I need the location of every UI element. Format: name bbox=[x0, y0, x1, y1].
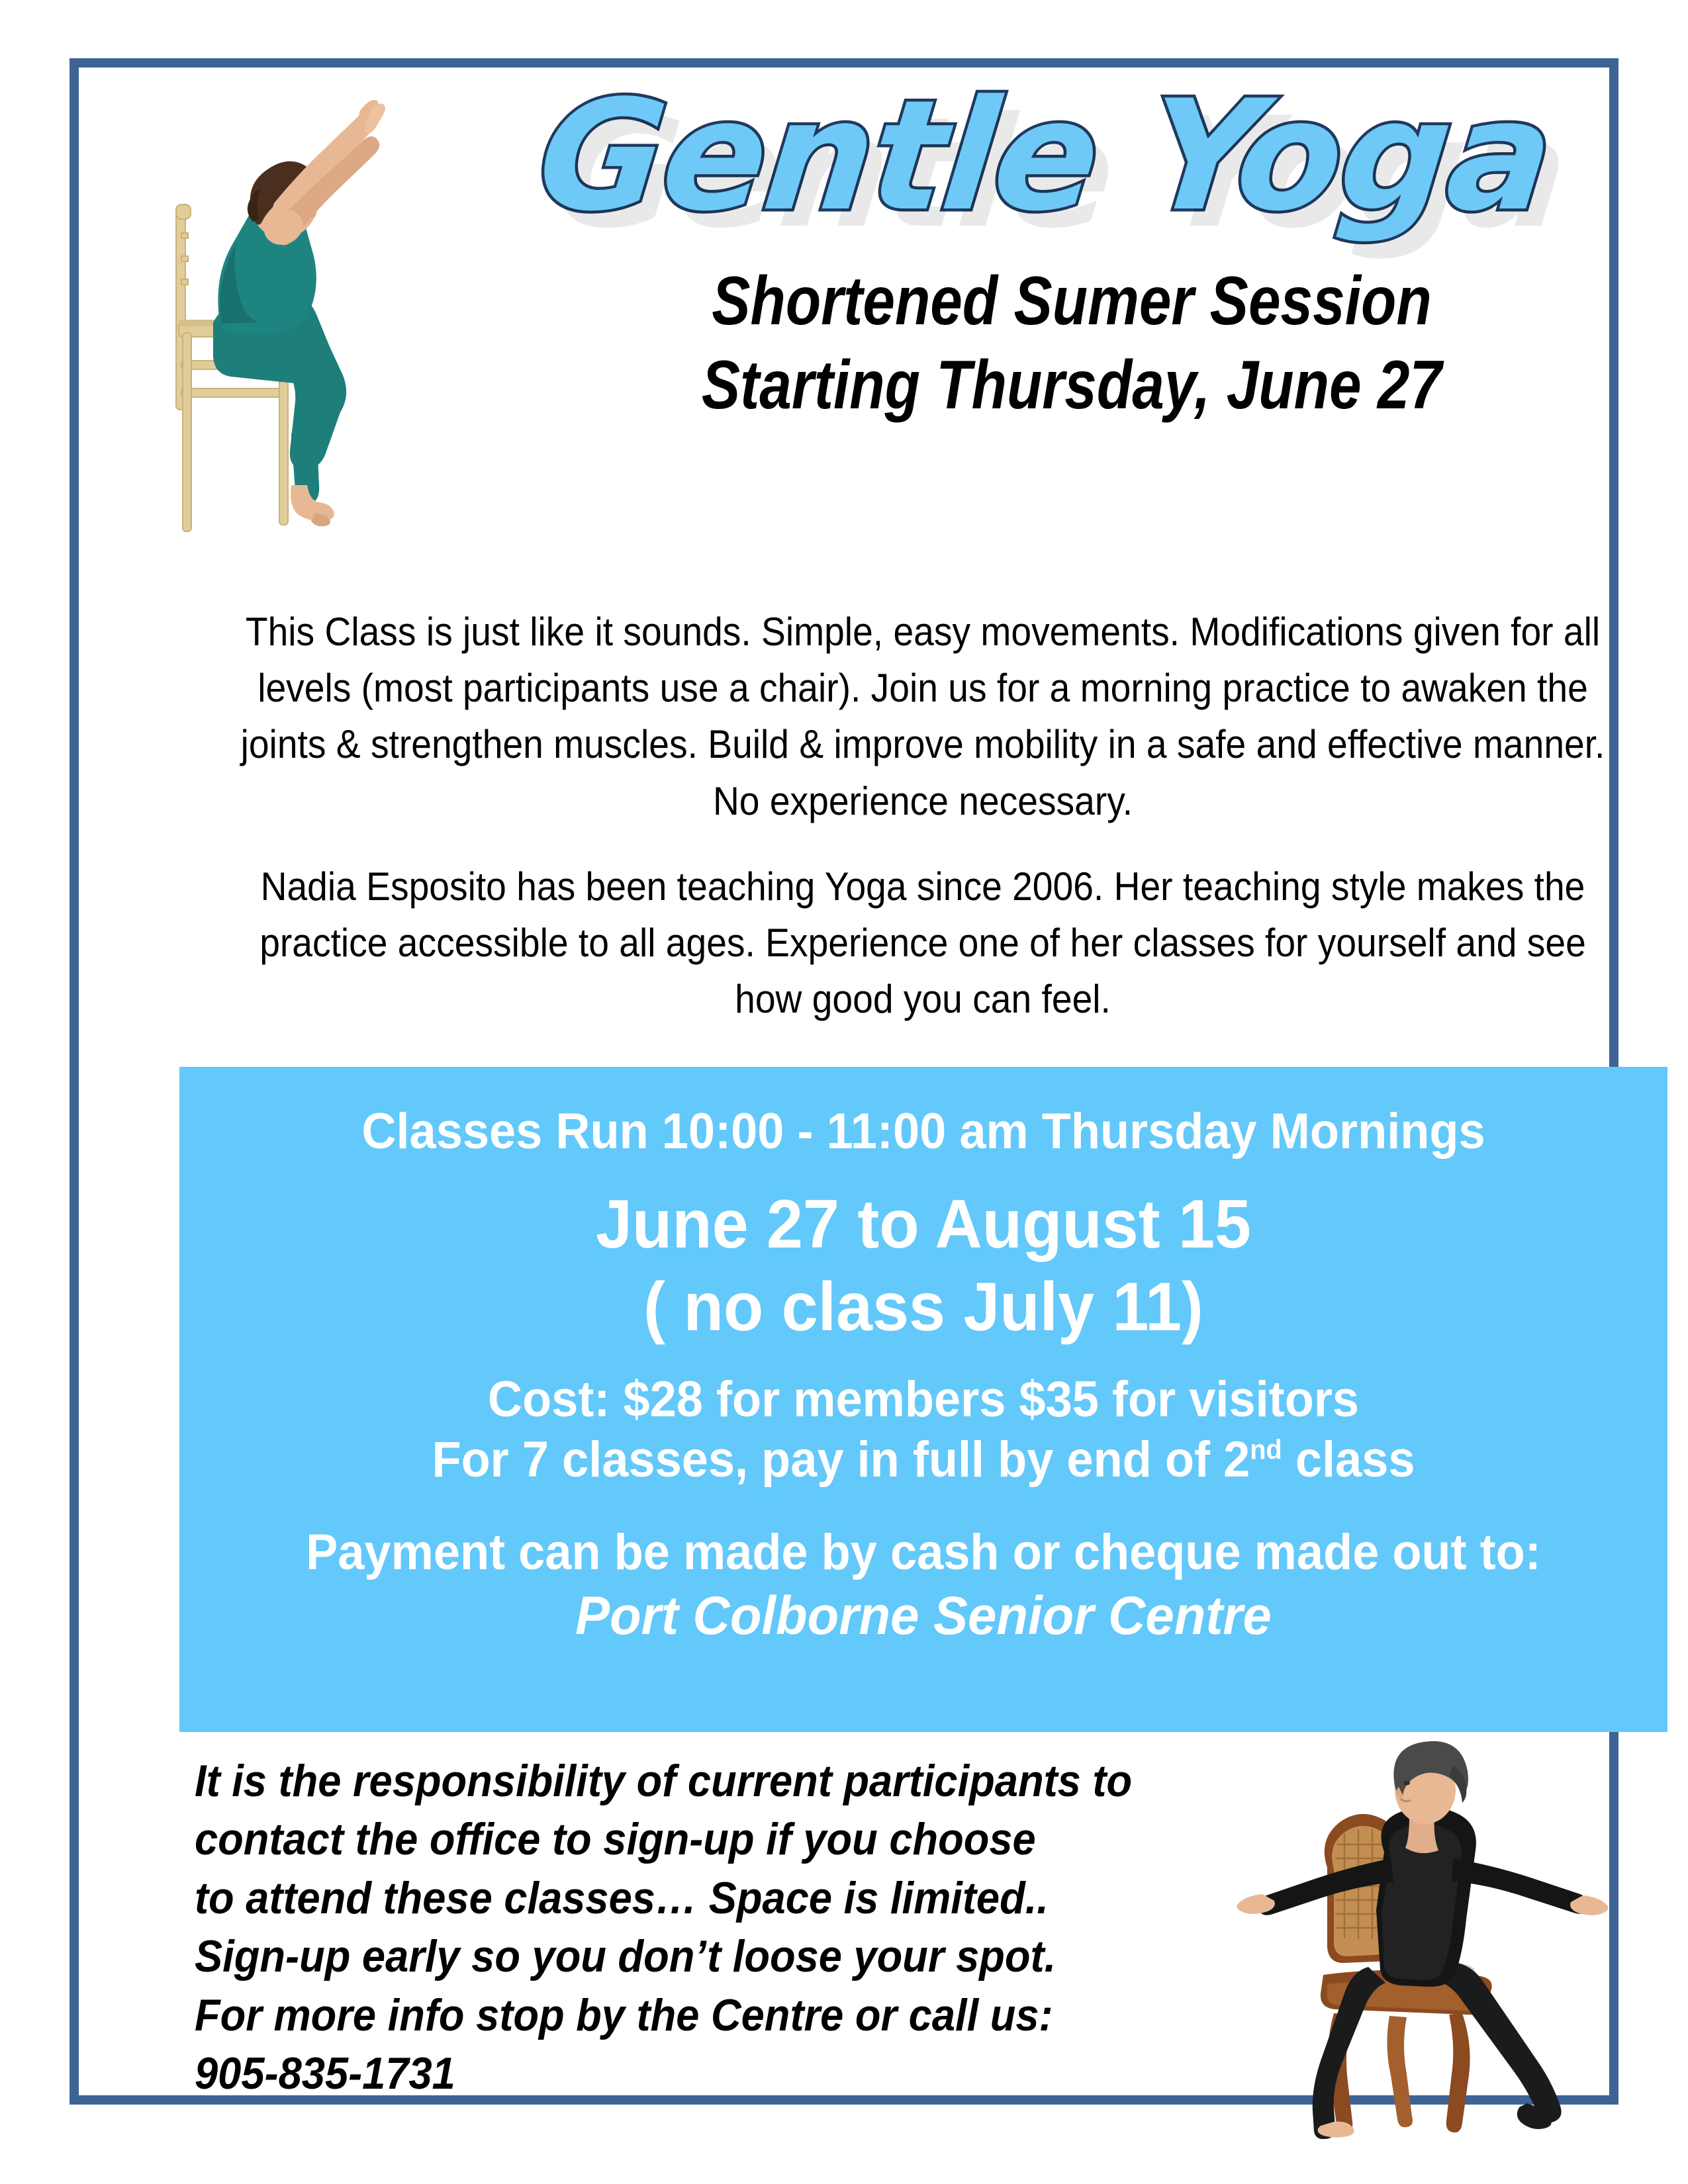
payment-terms-suffix: class bbox=[1282, 1432, 1415, 1488]
subtitle-session: Shortened Sumer Session bbox=[583, 259, 1561, 343]
footer-line-5: For more info stop by the Centre or call… bbox=[195, 1986, 1155, 2044]
page-border-frame: Gentle Yoga Shortened Sumer Session Star… bbox=[70, 58, 1618, 2105]
paragraph-instructor-bio: Nadia Esposito has been teaching Yoga si… bbox=[238, 858, 1608, 1028]
payment-terms-text: For 7 classes, pay in full by end of 2 bbox=[432, 1432, 1250, 1488]
class-cost: Cost: $28 for members $35 for visitors bbox=[242, 1371, 1605, 1429]
title-container: Gentle Yoga bbox=[449, 81, 1641, 279]
payee-name: Port Colborne Senior Centre bbox=[242, 1584, 1605, 1647]
subtitle-start-date: Starting Thursday, June 27 bbox=[583, 343, 1561, 428]
contact-phone-number: 905-835-1731 bbox=[195, 2044, 1155, 2103]
page-title: Gentle Yoga bbox=[442, 81, 1649, 233]
payment-terms-ordinal: nd bbox=[1250, 1433, 1282, 1465]
payment-method: Payment can be made by cash or cheque ma… bbox=[242, 1524, 1605, 1582]
schedule-info-panel: Classes Run 10:00 - 11:00 am Thursday Mo… bbox=[179, 1067, 1667, 1732]
paragraph-class-description: This Class is just like it sounds. Simpl… bbox=[238, 604, 1608, 829]
intro-paragraphs: This Class is just like it sounds. Simpl… bbox=[178, 604, 1667, 1054]
class-times: Classes Run 10:00 - 11:00 am Thursday Mo… bbox=[242, 1103, 1605, 1161]
footer-line-2: contact the office to sign-up if you cho… bbox=[195, 1810, 1155, 1868]
payment-terms: For 7 classes, pay in full by end of 2nd… bbox=[242, 1431, 1605, 1489]
warrior-pose-image bbox=[1197, 1729, 1634, 2139]
footer-line-1: It is the responsibility of current part… bbox=[195, 1752, 1155, 1810]
seated-yoga-pose-image bbox=[142, 91, 400, 534]
footer-note: It is the responsibility of current part… bbox=[195, 1752, 1227, 2103]
flyer-header: Gentle Yoga Shortened Sumer Session Star… bbox=[79, 68, 1609, 531]
subtitle-block: Shortened Sumer Session Starting Thursda… bbox=[489, 259, 1654, 428]
footer-line-4: Sign-up early so you don’t loose your sp… bbox=[195, 1927, 1155, 1985]
footer-line-3: to attend these classes… Space is limite… bbox=[195, 1869, 1155, 1927]
flyer-page: Gentle Yoga Shortened Sumer Session Star… bbox=[0, 0, 1688, 2184]
class-date-range: June 27 to August 15 bbox=[242, 1185, 1605, 1265]
no-class-note: ( no class July 11) bbox=[242, 1267, 1605, 1347]
